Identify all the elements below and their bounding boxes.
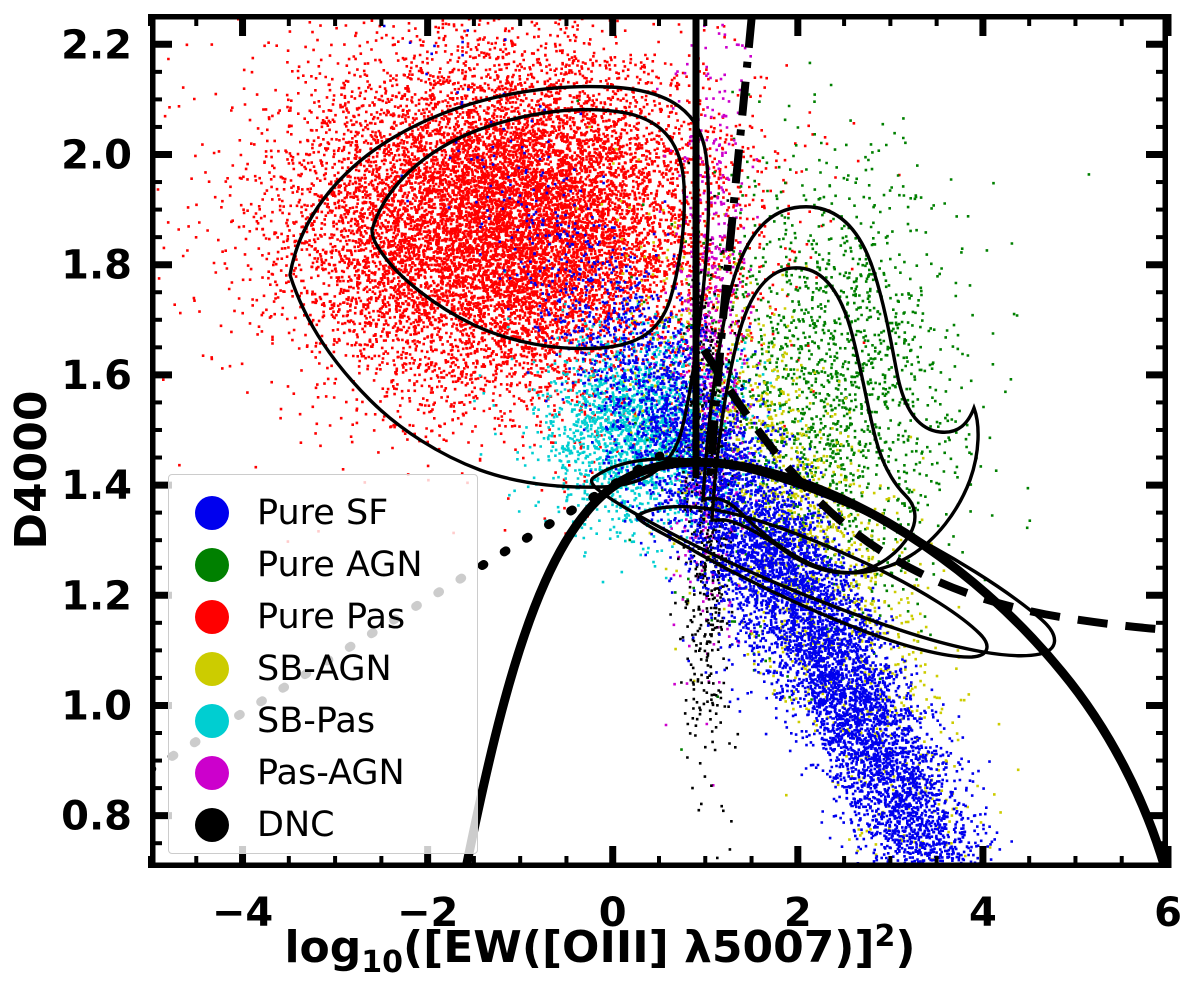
legend-marker-icon [195,652,229,686]
tick-label: 1.6 [61,353,132,399]
legend-item-label: SB-Pas [257,704,375,739]
figure-canvas: −4−202460.81.01.21.41.61.82.02.2 D4000 l… [0,0,1200,1000]
tick-label: 1.8 [61,243,132,289]
legend-marker-icon [195,704,229,738]
legend-item-label: Pas-AGN [257,756,405,791]
legend-item-dnc[interactable]: DNC [169,799,477,851]
tick-label: 4 [969,890,997,936]
tick-label: 1.4 [61,463,132,509]
legend-item-label: Pure Pas [257,600,405,635]
tick-label: 2.2 [61,22,132,68]
svg-text:log10([EW([OIII] λ5007)]2): log10([EW([OIII] λ5007)]2) [284,919,915,980]
tick-label: 2.0 [61,132,132,178]
legend-item-pure-sf[interactable]: Pure SF [169,487,477,539]
tick-label: −4 [212,890,273,936]
y-axis-label: D4000 [6,391,57,550]
tick-label: 6 [1154,890,1182,936]
tick-label: 1.2 [61,573,132,619]
legend-marker-icon [195,548,229,582]
legend-item-sb-agn[interactable]: SB-AGN [169,643,477,695]
legend-item-label: Pure AGN [257,548,423,583]
legend-item-label: DNC [257,808,335,843]
legend-marker-icon [195,756,229,790]
legend-item-label: Pure SF [257,496,388,531]
tick-label: 0.8 [61,794,132,840]
legend-item-pure-agn[interactable]: Pure AGN [169,539,477,591]
legend-marker-icon [195,600,229,634]
legend-item-pure-pas[interactable]: Pure Pas [169,591,477,643]
legend-marker-icon [195,496,229,530]
x-axis-label: log10([EW([OIII] λ5007)]2) [284,919,915,980]
tick-label: 1.0 [61,683,132,729]
legend-marker-icon [195,808,229,842]
legend-item-pas-agn[interactable]: Pas-AGN [169,747,477,799]
legend[interactable]: Pure SFPure AGNPure PasSB-AGNSB-PasPas-A… [168,474,478,854]
legend-item-label: SB-AGN [257,652,392,687]
legend-item-sb-pas[interactable]: SB-Pas [169,695,477,747]
